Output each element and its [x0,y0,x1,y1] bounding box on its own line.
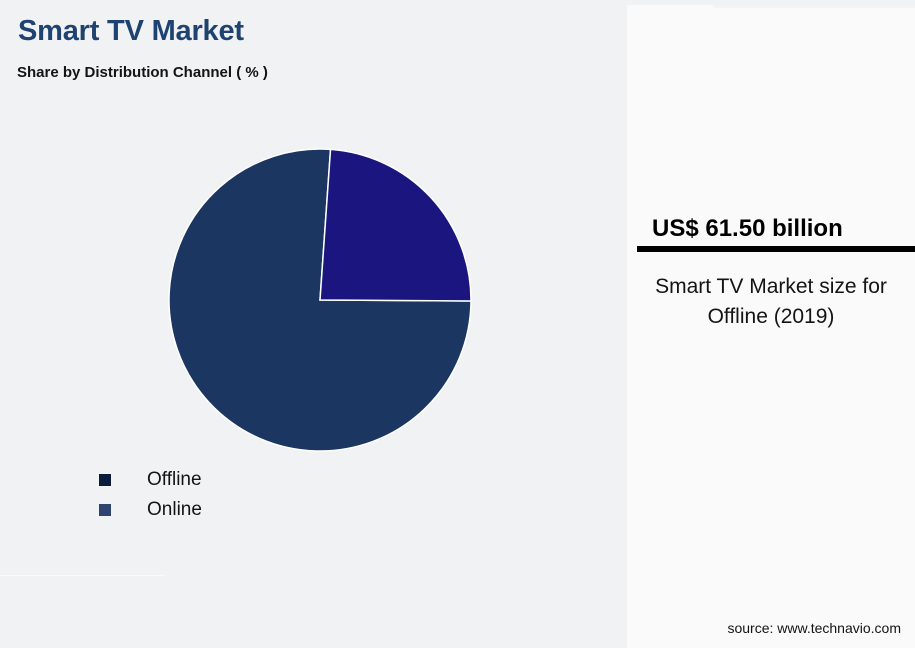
stat-panel-top-strip-inner [713,5,915,8]
chart-subtitle: Share by Distribution Channel ( % ) [17,64,268,81]
stat-caption: Smart TV Market size for Offline (2019) [641,272,901,332]
chart-legend: Offline Online [99,465,202,525]
pie-slice-online [320,149,471,301]
chart-panel: Smart TV Market Share by Distribution Ch… [0,0,627,648]
legend-item-online[interactable]: Online [99,495,202,525]
stat-divider-rule [637,246,915,252]
footer-divider [0,575,165,576]
stat-panel: US$ 61.50 billion Smart TV Market size f… [627,0,915,648]
legend-swatch-icon-offline [99,474,111,486]
stat-value: US$ 61.50 billion [652,215,843,243]
legend-label-online: Online [147,499,202,521]
legend-swatch-icon-online [99,504,111,516]
legend-item-offline[interactable]: Offline [99,465,202,495]
page-title: Smart TV Market [18,15,244,48]
source-attribution: source: www.technavio.com [727,620,901,636]
infographic-canvas: Smart TV Market Share by Distribution Ch… [0,0,915,648]
pie-chart [155,135,485,465]
legend-label-offline: Offline [147,469,202,491]
